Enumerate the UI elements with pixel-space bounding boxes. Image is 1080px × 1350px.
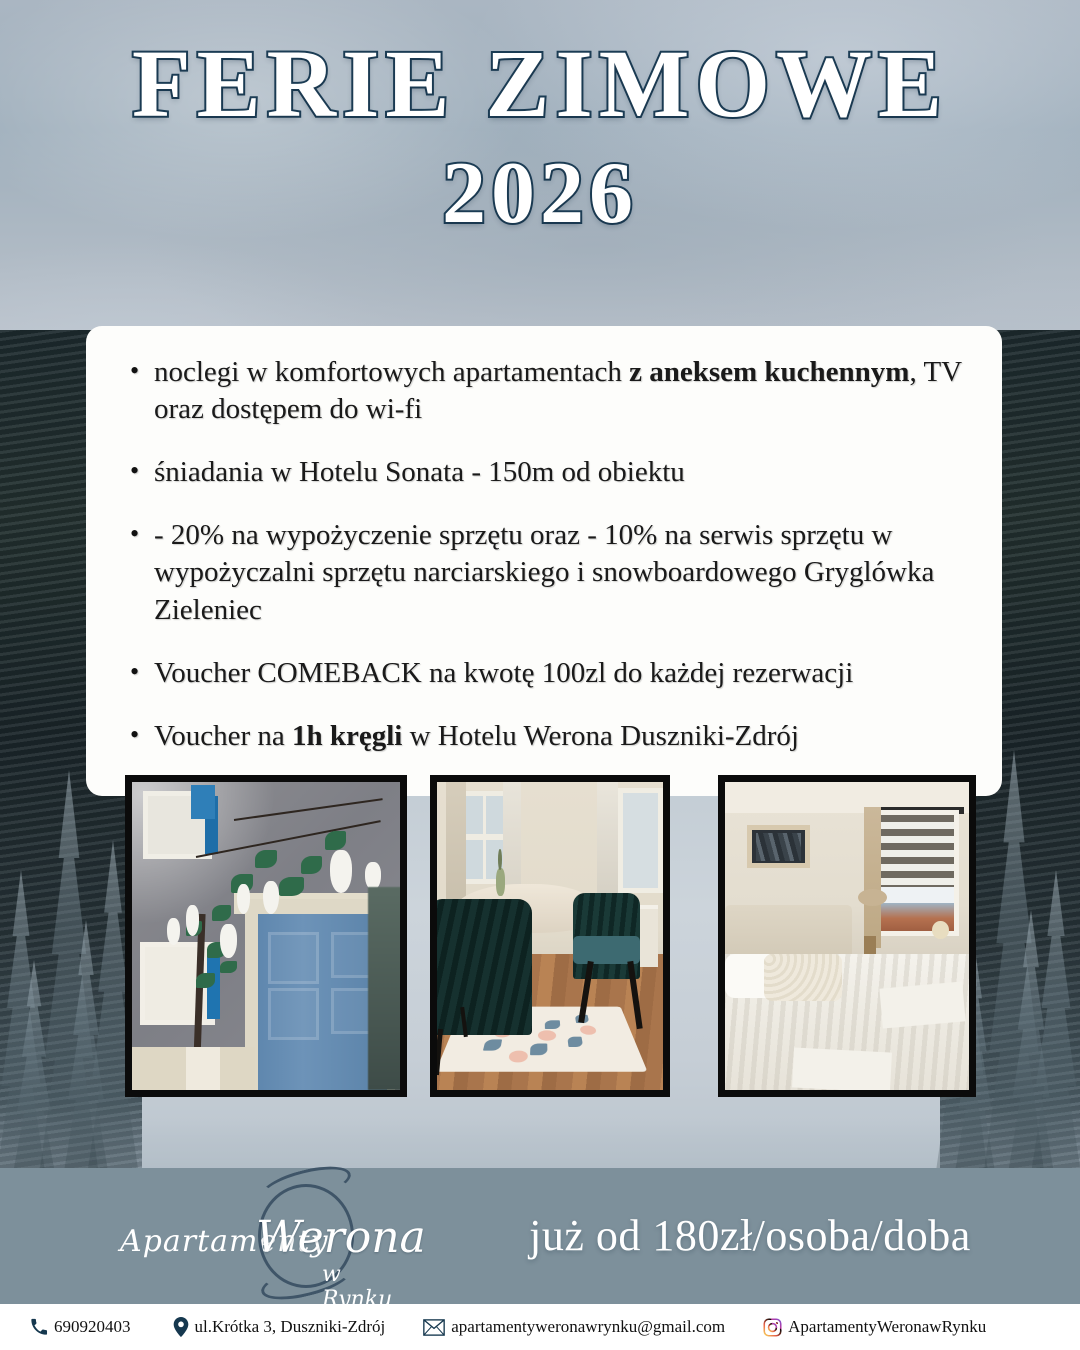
bullet-breakfast: śniadania w Hotelu Sonata - 150m od obie…	[126, 454, 962, 491]
offer-panel: noclegi w komfortowych apartamentach z a…	[86, 326, 1002, 796]
contact-instagram[interactable]: ApartamentyWeronawRynku	[763, 1317, 986, 1337]
email-text: apartamentyweronawrynku@gmail.com	[451, 1317, 725, 1337]
bullet-text-pre: Voucher COMEBACK na kwotę 100zl do każde…	[154, 657, 853, 689]
bullet-text-post: w Hotelu Werona Duszniki-Zdrój	[402, 720, 799, 752]
bullet-voucher-comeback: Voucher COMEBACK na kwotę 100zl do każde…	[126, 655, 962, 692]
title-line-1: FERIE ZIMOWE	[0, 34, 1080, 135]
title-line-2: 2026	[0, 149, 1080, 239]
photo-facade	[125, 775, 407, 1097]
address-text: ul.Krótka 3, Duszniki-Zdrój	[195, 1317, 386, 1337]
photo-bedroom	[718, 775, 976, 1097]
bullet-text-pre: Voucher na	[154, 720, 292, 752]
location-pin-icon	[173, 1317, 189, 1337]
bullet-text-pre: - 20% na wypożyczenie sprzętu oraz - 10%…	[154, 519, 934, 625]
logo: Apartamenty Werona w Rynku	[110, 1178, 410, 1294]
contact-phone[interactable]: 690920403	[30, 1317, 131, 1337]
contact-address[interactable]: ul.Krótka 3, Duszniki-Zdrój	[173, 1317, 386, 1337]
offer-bullet-list: noclegi w komfortowych apartamentach z a…	[126, 354, 962, 755]
bullet-text-bold: 1h kręgli	[292, 720, 402, 752]
bullet-text-bold: z aneksem kuchennym	[629, 356, 909, 388]
brand-banner: Apartamenty Werona w Rynku już od 180zł/…	[0, 1168, 1080, 1304]
phone-icon	[30, 1318, 48, 1336]
bullet-rental-discount: - 20% na wypożyczenie sprzętu oraz - 10%…	[126, 517, 962, 628]
photo-dining	[430, 775, 670, 1097]
poster-title: FERIE ZIMOWE 2026	[0, 34, 1080, 239]
envelope-icon	[423, 1319, 445, 1336]
instagram-icon	[763, 1318, 782, 1337]
contact-footer: 690920403 ul.Krótka 3, Duszniki-Zdrój ap…	[0, 1304, 1080, 1350]
bullet-text-pre: noclegi w komfortowych apartamentach	[154, 356, 629, 388]
phone-number: 690920403	[54, 1317, 131, 1337]
photo-strip	[0, 775, 1080, 1100]
bullet-accommodation: noclegi w komfortowych apartamentach z a…	[126, 354, 962, 428]
contact-email[interactable]: apartamentyweronawrynku@gmail.com	[423, 1317, 725, 1337]
instagram-handle: ApartamentyWeronawRynku	[788, 1317, 986, 1337]
bullet-text-pre: śniadania w Hotelu Sonata - 150m od obie…	[154, 456, 685, 488]
logo-werona-text: Werona	[256, 1212, 426, 1263]
bullet-voucher-bowling: Voucher na 1h kręgli w Hotelu Werona Dus…	[126, 718, 962, 755]
price-text: już od 180zł/osoba/doba	[470, 1210, 1030, 1261]
poster: FERIE ZIMOWE 2026 noclegi w komfortowych…	[0, 0, 1080, 1350]
